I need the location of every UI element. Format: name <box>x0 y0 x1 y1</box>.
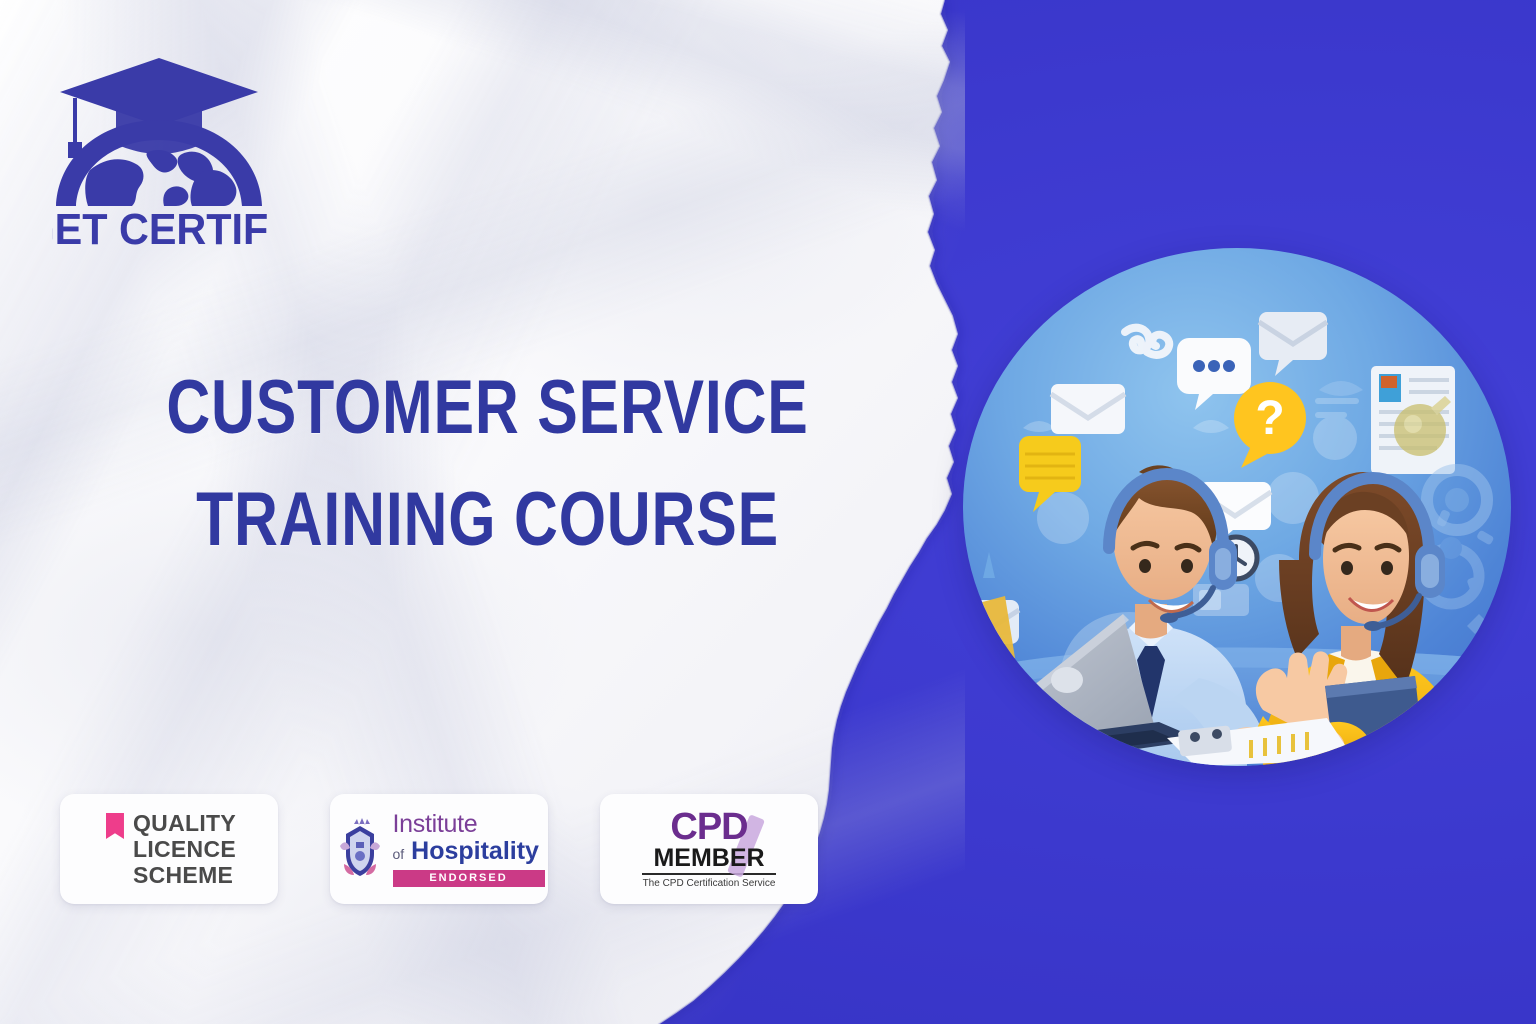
envelope-icon-1 <box>1051 384 1125 434</box>
customer-service-agents-illustration: ? <box>963 248 1511 766</box>
accreditation-badges: QUALITY LICENCE SCHEME <box>60 794 818 904</box>
ioh-endorsed-ribbon: ENDORSED <box>393 870 545 887</box>
gear-icon <box>1427 470 1487 530</box>
badge-institute-of-hospitality[interactable]: Institute of Hospitality ENDORSED <box>330 794 548 904</box>
question-mark-bubble-icon: ? <box>1234 382 1306 468</box>
qls-line-1: QUALITY <box>133 810 236 836</box>
badge-cpd-member[interactable]: CPD MEMBER The CPD Certification Service <box>600 794 818 904</box>
cpd-subtitle: MEMBER <box>653 845 764 871</box>
badge-quality-licence-scheme[interactable]: QUALITY LICENCE SCHEME <box>60 794 278 904</box>
poster-canvas: GET CERTIFY CUSTOMER SERVICE TRAINING CO… <box>0 0 1536 1024</box>
svg-text:?: ? <box>1255 392 1284 445</box>
logo-wordmark: GET CERTIFY <box>52 205 267 246</box>
qls-line-2: LICENCE <box>133 836 236 862</box>
cpd-divider <box>642 873 776 875</box>
cpd-fine-print: The CPD Certification Service <box>634 878 784 889</box>
ioh-line-1: Institute <box>393 812 545 837</box>
qls-line-3: SCHEME <box>133 862 233 888</box>
title-line-2: TRAINING COURSE <box>98 464 878 576</box>
graduation-cap-globe-icon: GET CERTIFY <box>52 48 267 246</box>
illustration-scene: ? <box>963 248 1511 766</box>
title-line-1: CUSTOMER SERVICE <box>98 352 878 464</box>
heraldic-crest-icon <box>334 818 386 880</box>
ioh-line-2-bold: Hospitality <box>411 837 539 865</box>
ioh-line-2-small: of <box>393 846 405 862</box>
envelope-icon-2 <box>1259 312 1327 376</box>
bookmark-icon <box>106 813 124 839</box>
cpd-title: CPD <box>670 809 747 845</box>
get-certify-logo[interactable]: GET CERTIFY <box>52 48 267 246</box>
page-title: CUSTOMER SERVICE TRAINING COURSE <box>0 352 975 576</box>
